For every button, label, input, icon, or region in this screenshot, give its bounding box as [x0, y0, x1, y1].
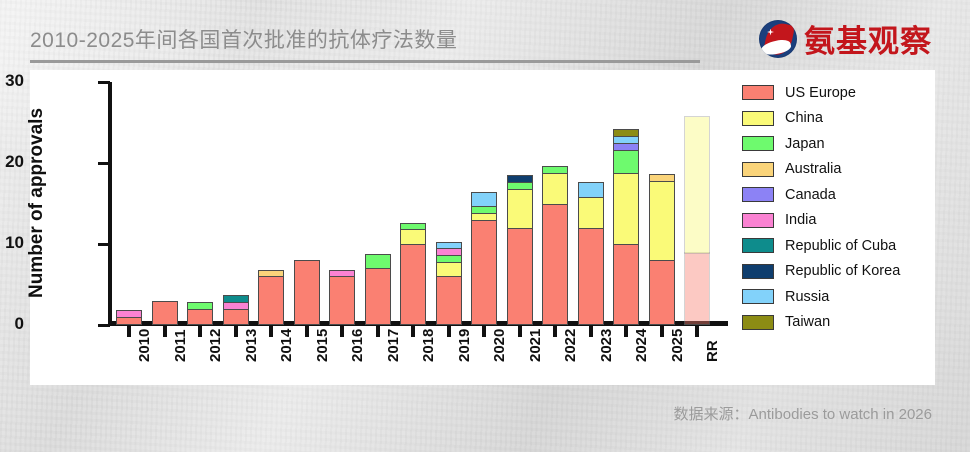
- bar-column: [471, 193, 497, 325]
- x-tick: [695, 326, 699, 337]
- legend-label: Canada: [785, 187, 836, 203]
- bar-column: [400, 224, 426, 325]
- legend-item[interactable]: China: [742, 106, 942, 132]
- bar-segment: [223, 309, 249, 325]
- legend-item[interactable]: Australia: [742, 157, 942, 183]
- legend-swatch: [742, 315, 774, 330]
- legend-swatch: [742, 136, 774, 151]
- chart-legend: US EuropeChinaJapanAustraliaCanadaIndiaR…: [742, 80, 942, 335]
- legend-label: China: [785, 110, 823, 126]
- legend-swatch: [742, 264, 774, 279]
- bar-column: [684, 117, 710, 325]
- title-underline: [30, 60, 700, 63]
- bar-segment: [684, 252, 710, 325]
- legend-swatch: [742, 187, 774, 202]
- y-tick-label: 0: [15, 314, 24, 334]
- bar-segment: [152, 301, 178, 325]
- bar-segment: [578, 182, 604, 198]
- x-tick-label: 2012: [207, 342, 224, 362]
- bar-column: [649, 175, 675, 325]
- bar-segment: [365, 254, 391, 270]
- bar-column: [223, 297, 249, 325]
- bar-segment: [613, 150, 639, 174]
- x-tick-label: 2025: [669, 342, 686, 362]
- x-tick: [376, 326, 380, 337]
- bar-segment: [258, 276, 284, 325]
- x-tick-label: 2011: [172, 342, 189, 362]
- x-tick-label: 2017: [385, 342, 402, 362]
- bar-segment: [613, 244, 639, 325]
- infographic-root: 2010-2025年间各国首次批准的抗体疗法数量 氨基观察 Number of …: [0, 0, 970, 452]
- legend-swatch: [742, 289, 774, 304]
- bar-chart-plot: Number of approvals 0102030 201020112012…: [30, 70, 730, 385]
- legend-item[interactable]: Russia: [742, 284, 942, 310]
- x-tick: [163, 326, 167, 337]
- bar-segment: [649, 181, 675, 262]
- legend-item[interactable]: Canada: [742, 182, 942, 208]
- y-axis-title: Number of approvals: [22, 70, 52, 335]
- x-tick-label: 2013: [243, 342, 260, 362]
- page-title: 2010-2025年间各国首次批准的抗体疗法数量: [30, 24, 457, 54]
- legend-item[interactable]: India: [742, 208, 942, 234]
- bar-segment: [400, 229, 426, 245]
- bar-segment: [578, 228, 604, 325]
- chart-card: Number of approvals 0102030 201020112012…: [30, 70, 935, 385]
- legend-label: Russia: [785, 289, 829, 305]
- bar-column: [365, 255, 391, 325]
- y-tick-label: 10: [5, 233, 24, 253]
- x-tick: [269, 326, 273, 337]
- x-tick-label: 2014: [278, 342, 295, 362]
- legend-label: Republic of Korea: [785, 263, 900, 279]
- bar-column: [329, 271, 355, 325]
- legend-swatch: [742, 238, 774, 253]
- x-tick: [589, 326, 593, 337]
- legend-label: Republic of Cuba: [785, 238, 896, 254]
- y-tick-label: 20: [5, 152, 24, 172]
- x-tick-label: 2018: [420, 342, 437, 362]
- bar-segment: [684, 116, 710, 254]
- brand-logo: 氨基观察: [759, 16, 932, 61]
- bar-column: [613, 131, 639, 325]
- bar-column: [542, 167, 568, 325]
- bar-segment: [436, 276, 462, 325]
- bar-column: [116, 312, 142, 325]
- y-tick: [98, 243, 110, 246]
- x-tick: [340, 326, 344, 337]
- bar-segment: [578, 197, 604, 229]
- bar-segment: [187, 309, 213, 325]
- x-tick: [234, 326, 238, 337]
- legend-swatch: [742, 111, 774, 126]
- legend-swatch: [742, 85, 774, 100]
- legend-label: Australia: [785, 161, 841, 177]
- bar-segment: [542, 173, 568, 205]
- bar-segment: [507, 189, 533, 230]
- bar-column: [187, 304, 213, 326]
- x-tick: [127, 326, 131, 337]
- x-tick: [198, 326, 202, 337]
- bar-segment: [542, 204, 568, 326]
- legend-label: India: [785, 212, 816, 228]
- y-tick: [98, 81, 110, 84]
- bar-segment: [649, 260, 675, 325]
- y-tick: [98, 162, 110, 165]
- legend-item[interactable]: Japan: [742, 131, 942, 157]
- bar-segment: [365, 268, 391, 325]
- bar-column: [294, 262, 320, 325]
- bar-column: [258, 271, 284, 325]
- bar-column: [578, 183, 604, 325]
- x-tick: [482, 326, 486, 337]
- bar-segment: [471, 192, 497, 208]
- legend-swatch: [742, 213, 774, 228]
- bar-segment: [613, 173, 639, 246]
- bar-segment: [471, 220, 497, 325]
- x-tick-label: 2016: [349, 342, 366, 362]
- x-tick: [305, 326, 309, 337]
- x-tick-label: 2022: [562, 342, 579, 362]
- y-tick-label: 30: [5, 71, 24, 91]
- bar-segment: [436, 262, 462, 278]
- x-tick: [624, 326, 628, 337]
- bar-column: [152, 302, 178, 325]
- bar-column: [507, 177, 533, 325]
- logo-emblem-icon: [759, 20, 797, 58]
- bar-segment: [294, 260, 320, 325]
- x-tick: [553, 326, 557, 337]
- x-tick: [518, 326, 522, 337]
- bar-segment: [507, 228, 533, 325]
- x-tick-label: 2019: [456, 342, 473, 362]
- x-tick: [411, 326, 415, 337]
- legend-swatch: [742, 162, 774, 177]
- x-tick-label: 2024: [633, 342, 650, 362]
- legend-label: Japan: [785, 136, 825, 152]
- x-tick-label: 2020: [491, 342, 508, 362]
- bar-column: [436, 243, 462, 325]
- x-tick-label: 2010: [136, 342, 153, 362]
- bar-segment: [116, 317, 142, 325]
- x-tick-label: 2015: [314, 342, 331, 362]
- legend-label: US Europe: [785, 85, 856, 101]
- x-tick-label: 2021: [527, 342, 544, 362]
- legend-item[interactable]: Taiwan: [742, 310, 942, 336]
- legend-item[interactable]: US Europe: [742, 80, 942, 106]
- x-tick: [660, 326, 664, 337]
- legend-item[interactable]: Republic of Korea: [742, 259, 942, 285]
- bar-segment: [329, 276, 355, 325]
- x-tick: [447, 326, 451, 337]
- legend-item[interactable]: Republic of Cuba: [742, 233, 942, 259]
- x-tick-label: 2023: [598, 342, 615, 362]
- logo-wordmark: 氨基观察: [804, 16, 932, 61]
- bar-segment: [400, 244, 426, 325]
- legend-label: Taiwan: [785, 314, 830, 330]
- y-tick: [98, 324, 110, 327]
- x-tick-label: RR: [704, 342, 721, 362]
- bar-group: [112, 82, 727, 325]
- source-note: 数据来源：Antibodies to watch in 2026: [674, 403, 932, 424]
